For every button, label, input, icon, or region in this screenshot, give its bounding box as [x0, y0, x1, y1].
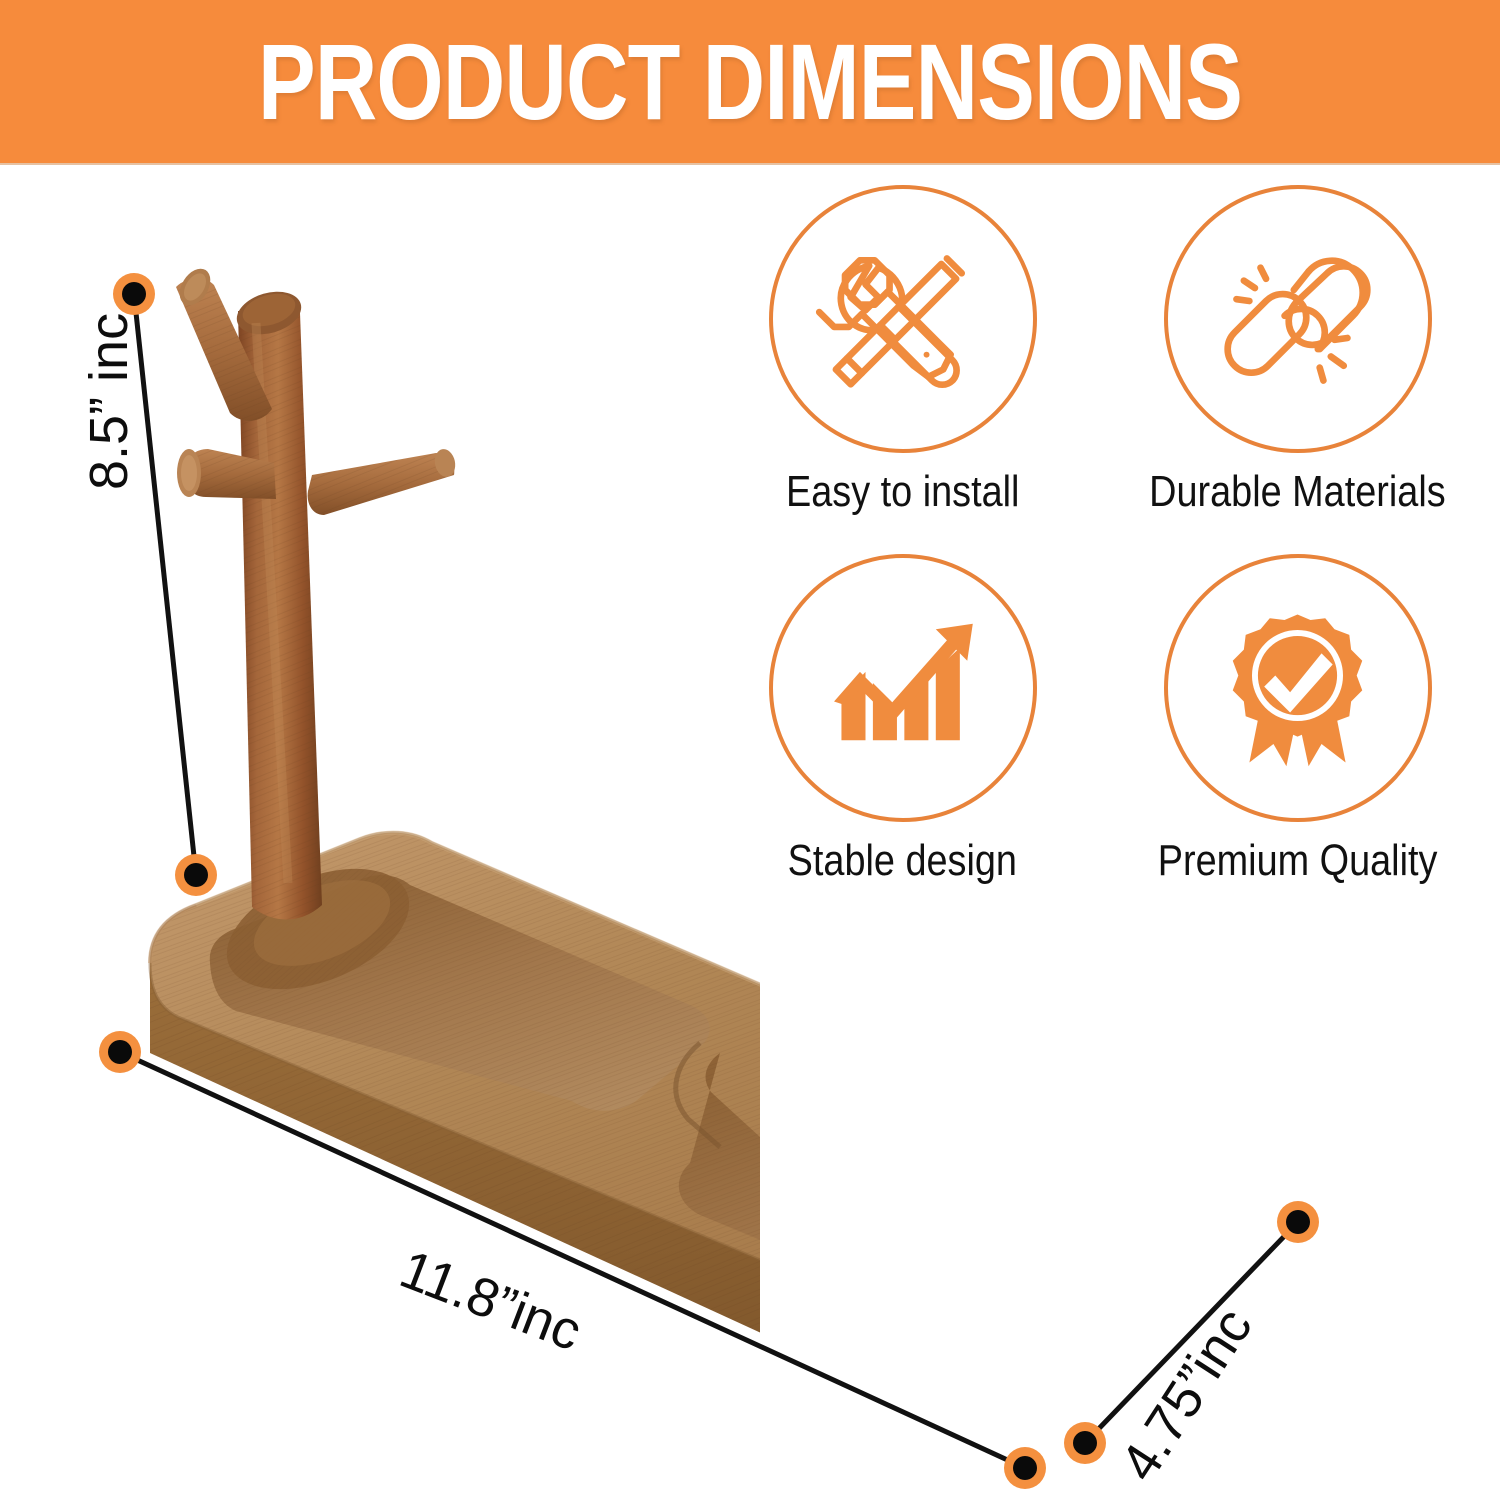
chain-link-icon [1205, 227, 1390, 412]
feature-stable-design: Stable design [710, 554, 1095, 915]
feature-icon-circle [769, 554, 1037, 822]
tray [150, 833, 760, 1463]
infographic-page: PRODUCT DIMENSIONS [0, 0, 1500, 1489]
feature-easy-to-install: Easy to install [710, 185, 1095, 546]
dimension-endpoint-width-right [1004, 1447, 1046, 1489]
wrench-screwdriver-icon [810, 227, 995, 412]
feature-durable-materials: Durable Materials [1105, 185, 1490, 546]
feature-label: Stable design [788, 836, 1017, 886]
dimension-endpoint-depth-top [1277, 1201, 1319, 1243]
dimension-label-height: 8.5” inc [78, 313, 140, 490]
feature-icon-circle [1164, 554, 1432, 822]
feature-grid: Easy to install [710, 185, 1490, 915]
feature-label: Easy to install [786, 467, 1019, 517]
feature-label: Durable Materials [1149, 467, 1446, 517]
dimension-label-depth: 4.75”inc [1108, 1297, 1265, 1489]
growth-bar-chart-icon [810, 596, 995, 781]
hook-right [308, 447, 458, 515]
dimension-endpoint-depth-bottom [1064, 1422, 1106, 1464]
feature-premium-quality: Premium Quality [1105, 554, 1490, 915]
page-title: PRODUCT DIMENSIONS [258, 28, 1242, 136]
feature-icon-circle [1164, 185, 1432, 453]
header-banner: PRODUCT DIMENSIONS [0, 0, 1500, 163]
feature-icon-circle [769, 185, 1037, 453]
feature-label: Premium Quality [1158, 836, 1438, 886]
award-ribbon-check-icon [1205, 596, 1390, 781]
